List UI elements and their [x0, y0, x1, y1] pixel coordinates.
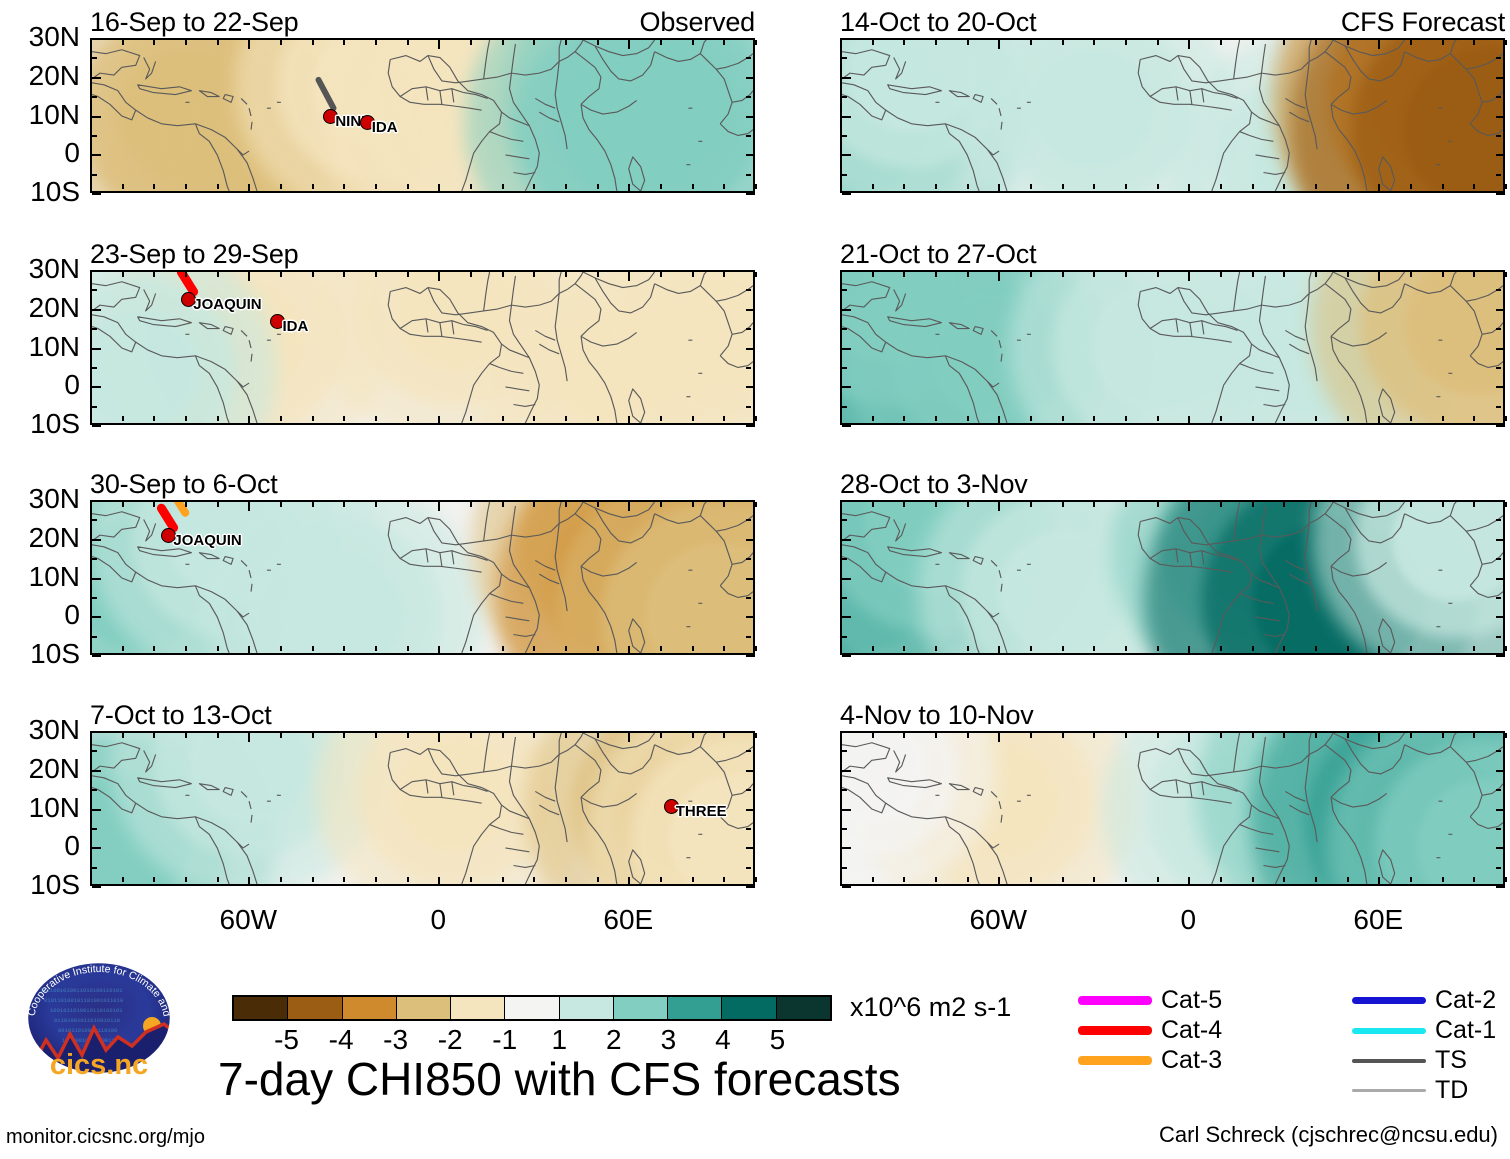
colorbar-segment-8 [667, 997, 721, 1019]
map-panel-fcs-1 [840, 38, 1505, 193]
x-axis-label: 60E [603, 904, 653, 936]
storm-label: IDA [372, 119, 398, 136]
svg-text:010110100101101001011010: 010110100101101001011010 [44, 997, 123, 1004]
legend-label: Cat-1 [1435, 1016, 1496, 1045]
map-panel-obs-3: JOAQUIN [90, 500, 755, 655]
map-panel-fcs-2 [840, 270, 1505, 425]
legend-row-cat-1: Cat-1 [1352, 1016, 1496, 1045]
legend-row-td: TD [1352, 1076, 1468, 1105]
legend-swatch-cat-1 [1352, 1028, 1426, 1034]
colorbar-segment-6 [559, 997, 613, 1019]
legend-swatch-ts [1352, 1059, 1426, 1063]
column-header-left: Observed [640, 7, 755, 38]
colorbar-segment-9 [721, 997, 775, 1019]
legend-swatch-td [1352, 1089, 1426, 1092]
y-axis-label: 0 [0, 599, 80, 631]
panel-title-fcs-1: 14-Oct to 20-Oct [840, 7, 1036, 38]
y-axis-label: 20N [0, 292, 80, 324]
y-axis-label: 20N [0, 753, 80, 785]
colorbar-segment-4 [450, 997, 504, 1019]
x-axis-label: 0 [431, 904, 447, 936]
coastline-overlay [92, 733, 753, 884]
y-axis-label: 10S [0, 869, 80, 901]
coastline-overlay [842, 40, 1503, 191]
colorbar-segment-3 [396, 997, 450, 1019]
column-header-right: CFS Forecast [1341, 7, 1505, 38]
coastline-overlay [842, 733, 1503, 884]
coastline-overlay [842, 272, 1503, 423]
panel-title-obs-1: 16-Sep to 22-Sep [90, 7, 298, 38]
colorbar-units-label: x10^6 m2 s-1 [850, 992, 1011, 1023]
y-axis-label: 10S [0, 176, 80, 208]
legend-row-cat-5: Cat-5 [1078, 986, 1222, 1015]
legend-swatch-cat-5 [1078, 996, 1152, 1005]
legend-label: Cat-2 [1435, 986, 1496, 1015]
coastline-overlay [92, 40, 753, 191]
y-axis-label: 20N [0, 522, 80, 554]
site-url[interactable]: monitor.cicsnc.org/mjo [6, 1126, 205, 1149]
storm-label: JOAQUIN [173, 532, 241, 549]
y-axis-label: 0 [0, 137, 80, 169]
panel-title-obs-4: 7-Oct to 13-Oct [90, 700, 272, 731]
y-axis-label: 30N [0, 483, 80, 515]
legend-swatch-cat-2 [1352, 997, 1426, 1004]
colorbar-segment-5 [504, 997, 558, 1019]
colorbar [232, 995, 832, 1021]
map-panel-fcs-3 [840, 500, 1505, 655]
map-panel-obs-2: JOAQUINIDA [90, 270, 755, 425]
map-panel-fcs-4 [840, 731, 1505, 886]
y-axis-label: 30N [0, 253, 80, 285]
y-axis-label: 10N [0, 561, 80, 593]
panel-title-obs-2: 23-Sep to 29-Sep [90, 239, 298, 270]
y-axis-label: 10N [0, 331, 80, 363]
legend-row-cat-4: Cat-4 [1078, 1016, 1222, 1045]
y-axis-label: 10S [0, 408, 80, 440]
main-title: 7-day CHI850 with CFS forecasts [218, 1052, 901, 1106]
y-axis-label: 10S [0, 638, 80, 670]
cics-nc-logo: 1011001010011010100110101 01011010010110… [14, 962, 184, 1087]
legend-swatch-cat-4 [1078, 1026, 1152, 1035]
colorbar-segment-7 [613, 997, 667, 1019]
y-axis-label: 0 [0, 830, 80, 862]
legend-row-cat-3: Cat-3 [1078, 1046, 1222, 1075]
logo-wordmark: cics.nc [50, 1049, 148, 1081]
x-axis-label: 0 [1181, 904, 1197, 936]
svg-text:001011010010110100: 001011010010110100 [58, 1027, 117, 1034]
author-credit: Carl Schreck (cjschrec@ncsu.edu) [1159, 1122, 1498, 1148]
legend-label: Cat-5 [1161, 986, 1222, 1015]
legend-label: Cat-3 [1161, 1046, 1222, 1075]
y-axis-label: 30N [0, 21, 80, 53]
svg-text:01101001011010010110: 01101001011010010110 [54, 1017, 120, 1024]
x-axis-label: 60W [220, 904, 278, 936]
y-axis-label: 10N [0, 792, 80, 824]
y-axis-label: 0 [0, 369, 80, 401]
legend-label: Cat-4 [1161, 1016, 1222, 1045]
y-axis-label: 10N [0, 99, 80, 131]
map-panel-obs-4: THREE [90, 731, 755, 886]
x-axis-label: 60W [970, 904, 1028, 936]
panel-title-fcs-3: 28-Oct to 3-Nov [840, 469, 1028, 500]
storm-label: JOAQUIN [193, 296, 261, 313]
colorbar-segment-0 [234, 997, 287, 1019]
y-axis-label: 20N [0, 60, 80, 92]
svg-text:1001011010010110100101: 1001011010010110100101 [50, 1007, 123, 1014]
panel-title-fcs-2: 21-Oct to 27-Oct [840, 239, 1036, 270]
legend-row-ts: TS [1352, 1046, 1467, 1075]
coastline-overlay [92, 502, 753, 653]
legend-swatch-cat-3 [1078, 1056, 1152, 1065]
colorbar-segment-1 [287, 997, 341, 1019]
map-panel-obs-1: NINEIDA [90, 38, 755, 193]
panel-title-obs-3: 30-Sep to 6-Oct [90, 469, 278, 500]
legend-label: TD [1435, 1076, 1468, 1105]
storm-label: IDA [282, 318, 308, 335]
colorbar-segment-10 [776, 997, 830, 1019]
legend-row-cat-2: Cat-2 [1352, 986, 1496, 1015]
y-axis-label: 30N [0, 714, 80, 746]
panel-title-fcs-4: 4-Nov to 10-Nov [840, 700, 1034, 731]
legend-label: TS [1435, 1046, 1467, 1075]
colorbar-segment-2 [342, 997, 396, 1019]
x-axis-label: 60E [1353, 904, 1403, 936]
coastline-overlay [842, 502, 1503, 653]
storm-label: THREE [676, 803, 727, 820]
